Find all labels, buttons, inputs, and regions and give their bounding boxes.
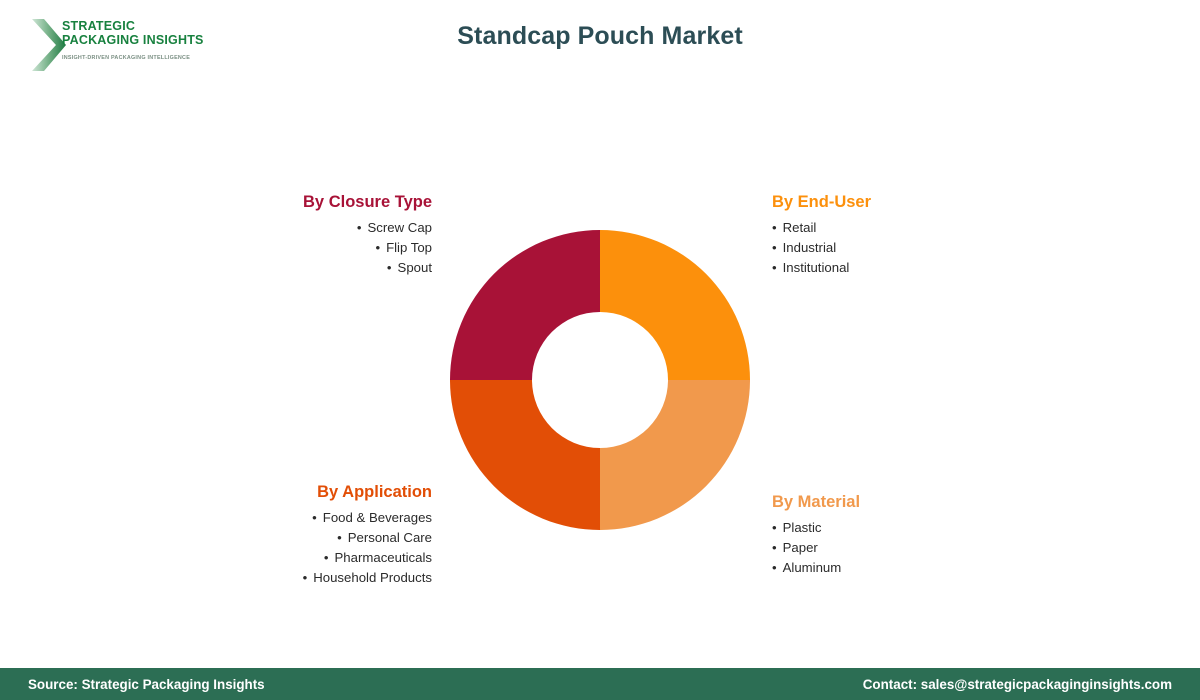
list-item: Retail [772, 218, 1072, 238]
footer-source: Source: Strategic Packaging Insights [28, 677, 265, 692]
list-item: Plastic [772, 518, 1072, 538]
category-heading-material: By Material [772, 493, 1072, 512]
list-item: Paper [772, 538, 1072, 558]
category-block-end-user: By End-User Retail Industrial Institutio… [772, 193, 1072, 278]
list-item: Industrial [772, 238, 1072, 258]
list-item: Flip Top [130, 238, 432, 258]
donut-slice [450, 380, 600, 530]
list-item: Spout [130, 258, 432, 278]
donut-chart [450, 230, 750, 530]
category-list-end-user: Retail Industrial Institutional [772, 218, 1072, 278]
list-item: Food & Beverages [80, 508, 432, 528]
category-block-closure-type: By Closure Type Screw Cap Flip Top Spout [130, 193, 432, 278]
page-title: Standcap Pouch Market [0, 22, 1200, 51]
list-item: Pharmaceuticals [80, 548, 432, 568]
list-item: Aluminum [772, 558, 1072, 578]
category-heading-application: By Application [80, 483, 432, 502]
category-list-material: Plastic Paper Aluminum [772, 518, 1072, 578]
category-list-application: Food & Beverages Personal Care Pharmaceu… [80, 508, 432, 588]
category-list-closure-type: Screw Cap Flip Top Spout [130, 218, 432, 278]
category-block-material: By Material Plastic Paper Aluminum [772, 493, 1072, 578]
category-heading-closure-type: By Closure Type [130, 193, 432, 212]
logo-tagline: INSIGHT-DRIVEN PACKAGING INTELLIGENCE [62, 55, 217, 61]
donut-slice [600, 230, 750, 380]
list-item: Screw Cap [130, 218, 432, 238]
category-heading-end-user: By End-User [772, 193, 1072, 212]
donut-slice [450, 230, 600, 380]
footer-contact: Contact: sales@strategicpackaginginsight… [863, 677, 1172, 692]
list-item: Household Products [80, 568, 432, 588]
list-item: Institutional [772, 258, 1072, 278]
category-block-application: By Application Food & Beverages Personal… [80, 483, 432, 588]
list-item: Personal Care [80, 528, 432, 548]
donut-slice [600, 380, 750, 530]
footer-bar: Source: Strategic Packaging Insights Con… [0, 668, 1200, 700]
